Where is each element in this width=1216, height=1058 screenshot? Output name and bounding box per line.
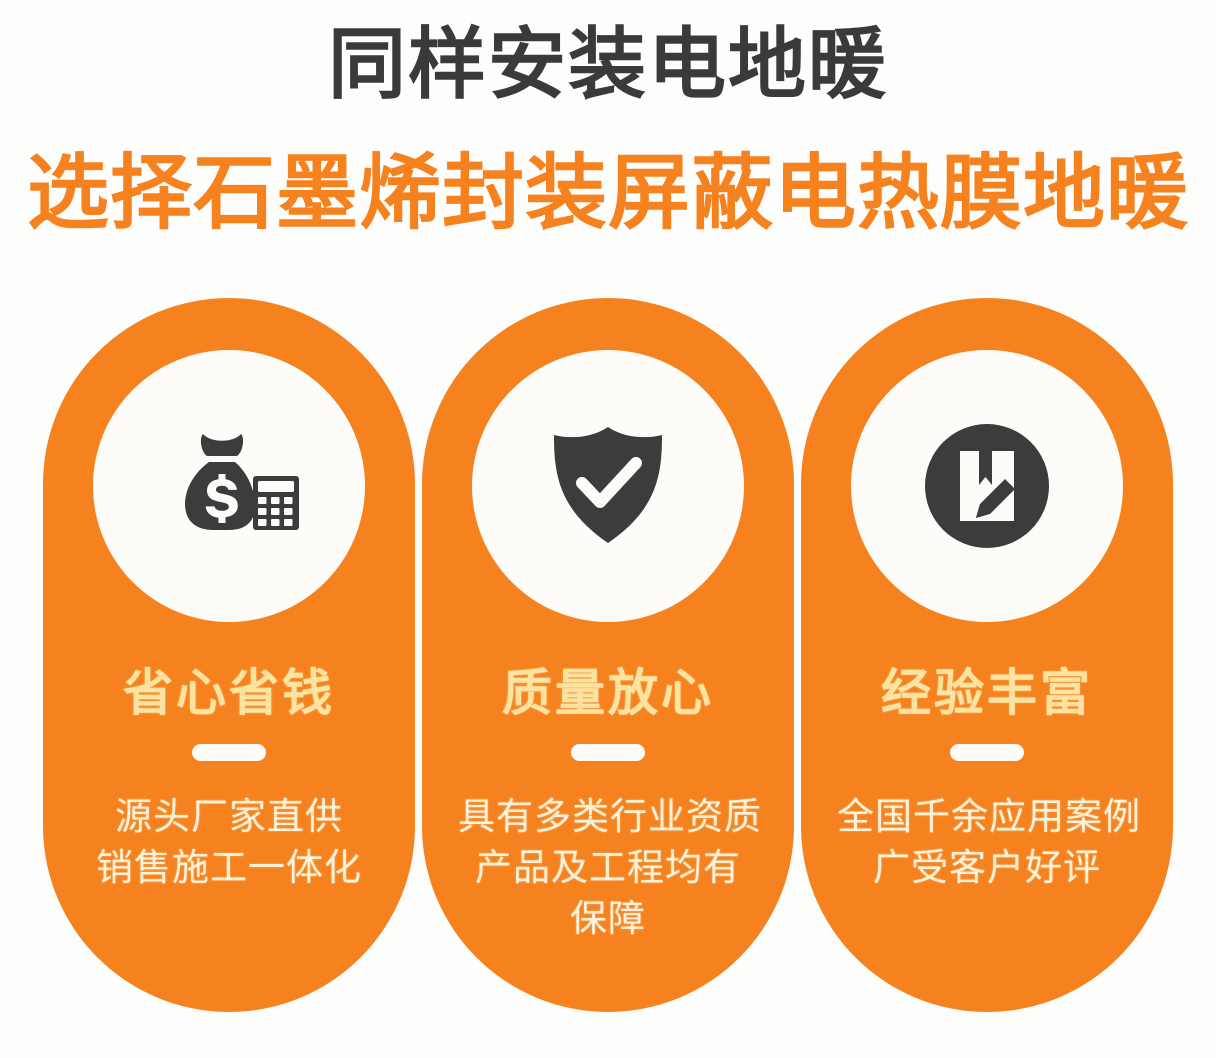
card-body: 全国千余应用案例 广受客户好评 — [837, 791, 1137, 893]
card-divider — [950, 744, 1024, 761]
money-bag-calculator-icon — [159, 426, 299, 546]
card-title: 经验丰富 — [881, 664, 1093, 722]
card-body-line: 产品及工程均有 — [458, 842, 758, 893]
document-pencil-circle-icon — [923, 422, 1051, 550]
card-body-line: 销售施工一体化 — [79, 842, 379, 893]
card-body-line: 具有多类行业资质 — [458, 791, 758, 842]
card-body-line: 源头厂家直供 — [79, 791, 379, 842]
card-title: 质量放心 — [502, 664, 714, 722]
card-title: 省心省钱 — [123, 664, 335, 722]
headline-primary: 同样安装电地暖 — [0, 0, 1216, 112]
promo-banner: 同样安装电地暖 选择石墨烯封装屏蔽电热膜地暖 — [0, 0, 1216, 1058]
icon-disc — [851, 350, 1123, 622]
shield-check-icon — [550, 425, 666, 547]
headline-block: 同样安装电地暖 选择石墨烯封装屏蔽电热膜地暖 — [0, 0, 1216, 244]
headline-secondary: 选择石墨烯封装屏蔽电热膜地暖 — [0, 112, 1216, 244]
card-body-line: 全国千余应用案例 — [837, 791, 1137, 842]
icon-disc — [472, 350, 744, 622]
card-divider — [192, 744, 266, 761]
icon-disc — [93, 350, 365, 622]
feature-card-experience[interactable]: 经验丰富 全国千余应用案例 广受客户好评 — [801, 298, 1173, 1012]
card-body-line: 保障 — [458, 893, 758, 944]
card-body: 源头厂家直供 销售施工一体化 — [79, 791, 379, 893]
feature-card-save-money[interactable]: 省心省钱 源头厂家直供 销售施工一体化 — [43, 298, 415, 1012]
feature-card-quality[interactable]: 质量放心 具有多类行业资质 产品及工程均有 保障 — [422, 298, 794, 1012]
card-divider — [571, 744, 645, 761]
feature-cards-row: 省心省钱 源头厂家直供 销售施工一体化 质量放心 具有多类行业资质 — [43, 298, 1173, 1012]
card-body: 具有多类行业资质 产品及工程均有 保障 — [458, 791, 758, 944]
card-body-line: 广受客户好评 — [837, 842, 1137, 893]
